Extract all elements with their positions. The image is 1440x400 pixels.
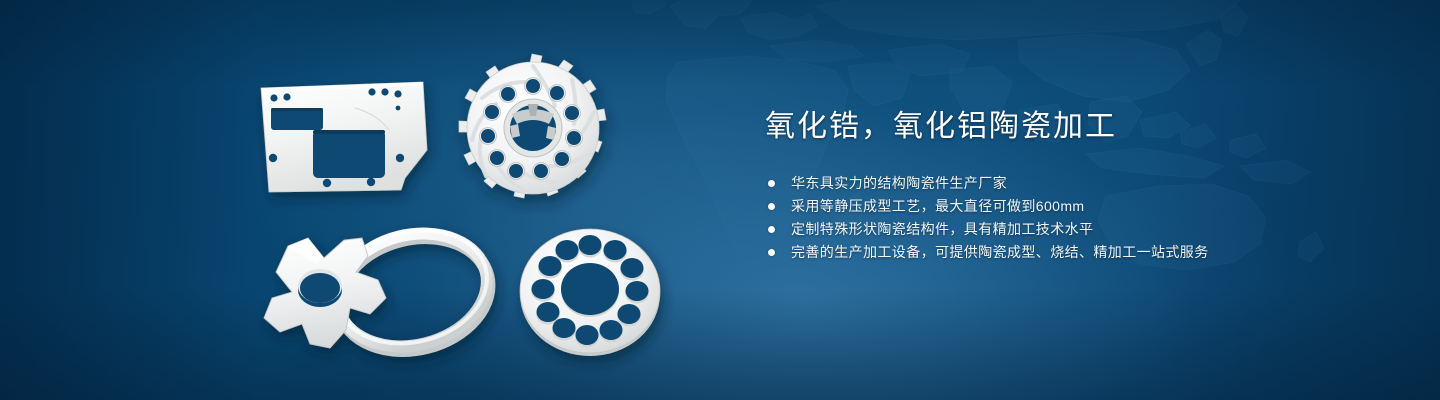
ceramic-plate-image [255,78,431,196]
bullet-text: 采用等静压成型工艺，最大直径可做到600mm [791,198,1084,214]
promo-banner: 氧化锆，氧化铝陶瓷加工 华东具实力的结构陶瓷件生产厂家 采用等静压成型工艺，最大… [0,0,1440,400]
ceramic-cross-and-ring-image [252,222,508,362]
banner-copy: 氧化锆，氧化铝陶瓷加工 华东具实力的结构陶瓷件生产厂家 采用等静压成型工艺，最大… [765,108,1325,264]
bullet-text: 定制特殊形状陶瓷结构件，具有精加工技术水平 [791,221,1093,237]
list-item: 华东具实力的结构陶瓷件生产厂家 [765,172,1325,195]
list-item: 采用等静压成型工艺，最大直径可做到600mm [765,195,1325,218]
bullet-text: 华东具实力的结构陶瓷件生产厂家 [791,175,1007,191]
bullet-dot-icon [768,226,775,233]
product-photo-group [0,0,760,400]
bullet-dot-icon [768,249,775,256]
ceramic-holed-disc-image [515,226,665,360]
bullet-dot-icon [768,180,775,187]
list-item: 定制特殊形状陶瓷结构件，具有精加工技术水平 [765,218,1325,241]
list-item: 完善的生产加工设备，可提供陶瓷成型、烧结、精加工一站式服务 [765,241,1325,264]
bullet-dot-icon [768,203,775,210]
bullet-text: 完善的生产加工设备，可提供陶瓷成型、烧结、精加工一站式服务 [791,244,1209,260]
feature-bullet-list: 华东具实力的结构陶瓷件生产厂家 采用等静压成型工艺，最大直径可做到600mm 定… [765,172,1325,264]
ceramic-impeller-image [452,52,614,210]
banner-headline: 氧化锆，氧化铝陶瓷加工 [765,108,1325,146]
